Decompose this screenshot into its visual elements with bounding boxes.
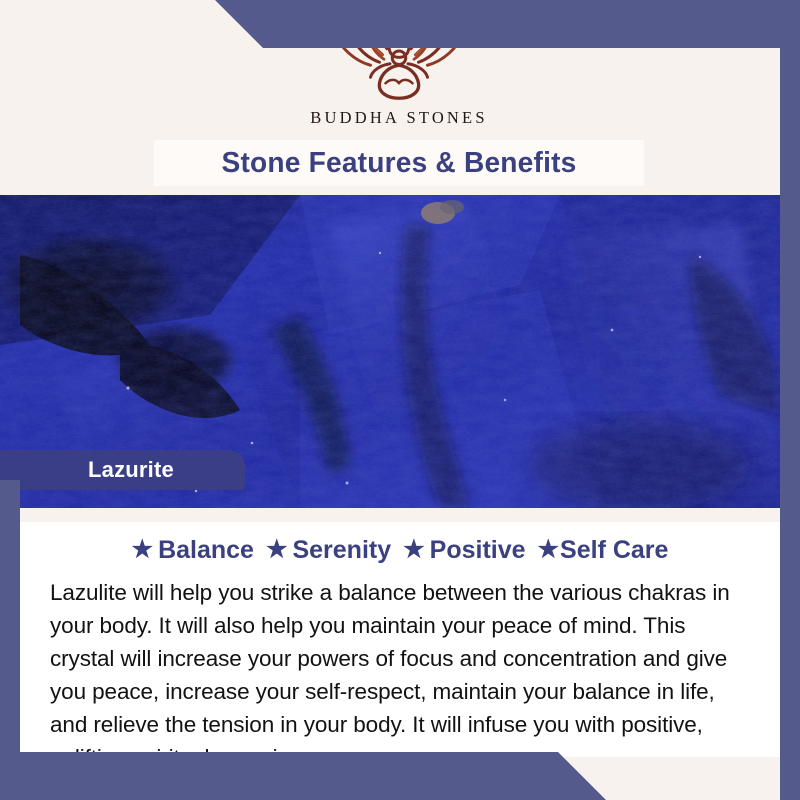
star-icon: ★ [538,538,560,562]
stone-photo: Lazurite [0,195,780,508]
benefit-positive: ★ Positive [403,536,525,565]
benefit-label: Balance [158,536,254,565]
stone-name-badge: Lazurite [0,450,245,490]
card-top-strip [20,508,780,522]
brand-name: BUDDHA STONES [310,108,487,128]
benefit-self-care: ★ Self Care [538,536,669,565]
benefits-row: ★ Balance ★ Serenity ★ Positive ★ Self C… [42,532,758,568]
benefit-label: Serenity [292,536,391,565]
title-bar: Stone Features & Benefits [154,140,644,186]
star-icon: ★ [132,538,154,562]
stone-description: Lazulite will help you strike a balance … [42,576,758,774]
star-icon: ★ [403,538,425,562]
content-card: ★ Balance ★ Serenity ★ Positive ★ Self C… [20,522,780,757]
page-title: Stone Features & Benefits [221,147,576,180]
stone-name-label: Lazurite [88,457,174,483]
poster: BUDDHA STONES Stone Features & Benefits [0,0,800,800]
right-navy-border [780,0,800,800]
benefit-serenity: ★ Serenity [266,536,391,565]
benefit-label: Self Care [560,536,668,565]
benefit-label: Positive [430,536,526,565]
benefit-balance: ★ Balance [132,536,254,565]
star-icon: ★ [266,538,288,562]
